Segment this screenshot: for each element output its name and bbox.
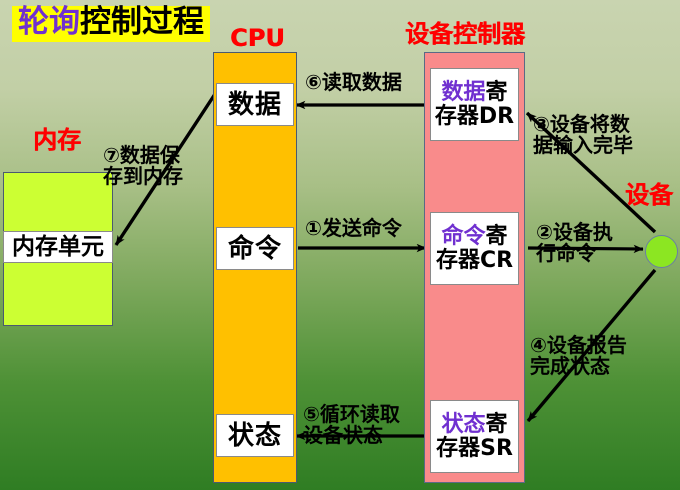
page-title: 轮询控制过程 <box>12 6 210 42</box>
heading-device: 设备 <box>625 183 673 207</box>
register-cr-accent: 命令 <box>441 224 485 249</box>
label-step-4: ④设备报告 完成状态 <box>530 335 627 377</box>
heading-memory: 内存 <box>33 128 81 152</box>
heading-cpu: CPU <box>230 26 285 50</box>
label-step-6: ⑥读取数据 <box>305 72 402 93</box>
register-sr[interactable]: 状态寄 存器SR <box>430 400 519 473</box>
label-step-2-line2: 行命令 <box>536 243 613 264</box>
label-step-7: ⑦数据保 存到内存 <box>103 145 183 187</box>
label-step-5-line1: ⑤循环读取 <box>303 404 400 425</box>
register-dr[interactable]: 数据寄 存器DR <box>430 68 519 141</box>
cpu-cell-data[interactable]: 数据 <box>216 83 294 126</box>
cpu-cell-status[interactable]: 状态 <box>216 414 294 457</box>
register-sr-line1: 状态寄 <box>441 413 507 437</box>
memory-unit-cell[interactable]: 内存单元 <box>3 231 113 263</box>
label-step-3-line1: ③设备将数 <box>533 114 633 135</box>
label-step-7-line2: 存到内存 <box>103 166 183 187</box>
register-sr-tail: 寄 <box>486 412 508 437</box>
label-step-4-line1: ④设备报告 <box>530 335 627 356</box>
heading-controller: 设备控制器 <box>405 22 525 46</box>
register-cr-line2: 存器CR <box>436 249 513 273</box>
register-dr-line2: 存器DR <box>435 105 514 129</box>
register-dr-accent: 数据 <box>441 80 485 105</box>
register-dr-tail: 寄 <box>486 80 508 105</box>
label-step-7-line1: ⑦数据保 <box>103 145 183 166</box>
label-step-3: ③设备将数 据输入完毕 <box>533 114 633 156</box>
label-step-2: ②设备执 行命令 <box>536 222 613 264</box>
register-cr-line1: 命令寄 <box>441 225 507 249</box>
page-title-accent: 轮询 <box>18 4 80 40</box>
label-step-1-line1: ①发送命令 <box>305 218 402 239</box>
register-cr[interactable]: 命令寄 存器CR <box>430 212 519 285</box>
page-title-rest: 控制过程 <box>80 4 204 40</box>
diagram-canvas: 轮询控制过程 内存 CPU 设备控制器 设备 内存单元 数据 命令 状态 数据寄… <box>0 0 680 490</box>
label-step-1: ①发送命令 <box>305 218 402 239</box>
register-sr-accent: 状态 <box>441 412 485 437</box>
label-step-5-line2: 设备状态 <box>303 425 400 446</box>
label-step-4-line2: 完成状态 <box>530 356 627 377</box>
label-step-6-line1: ⑥读取数据 <box>305 72 402 93</box>
device-node[interactable] <box>645 235 678 268</box>
register-sr-line2: 存器SR <box>436 437 513 461</box>
cpu-cell-command[interactable]: 命令 <box>216 227 294 270</box>
register-dr-line1: 数据寄 <box>441 81 507 105</box>
label-step-2-line1: ②设备执 <box>536 222 613 243</box>
label-step-5: ⑤循环读取 设备状态 <box>303 404 400 446</box>
register-cr-tail: 寄 <box>486 224 508 249</box>
label-step-3-line2: 据输入完毕 <box>533 135 633 156</box>
